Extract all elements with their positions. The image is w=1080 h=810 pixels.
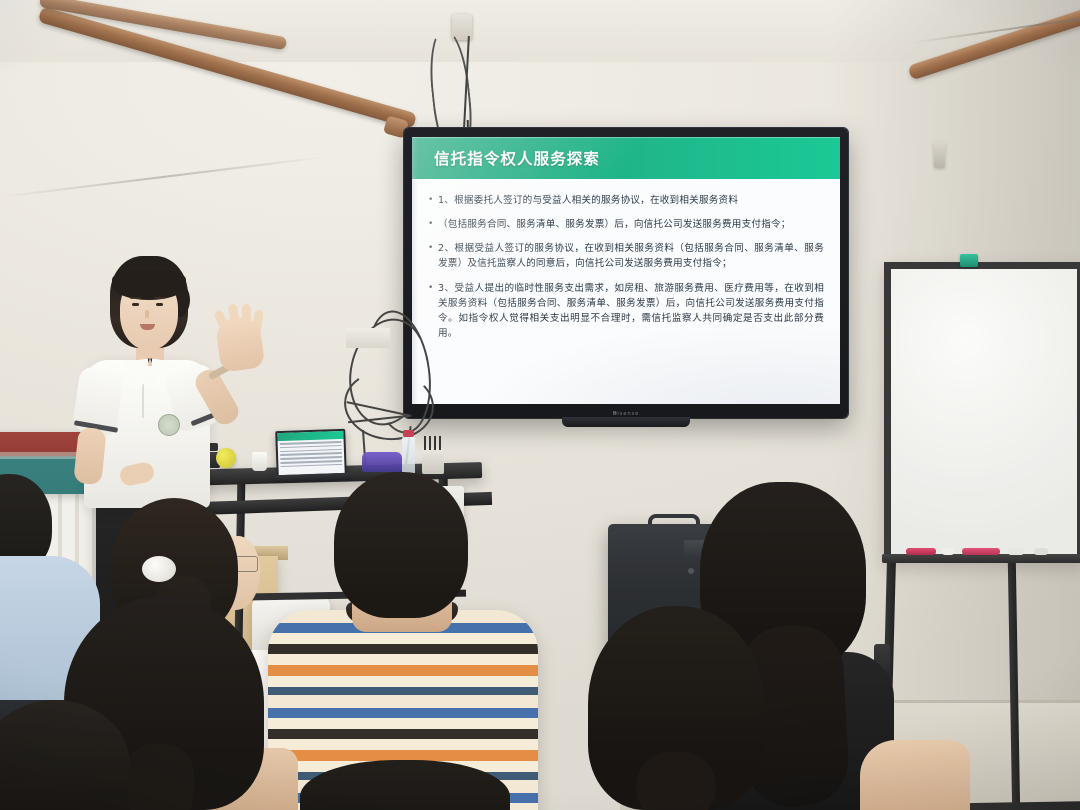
laptop-lid: [275, 429, 347, 477]
slide-title: 信托指令权人服务探索: [434, 147, 600, 169]
bullet-text: 3、受益人提出的临时性服务支出需求，如房租、旅游服务费用、医疗费用等，在收到相关…: [438, 281, 824, 342]
bullet-text: 1、根据委托人签订的与受益人相关的服务协议，在收到相关服务资料: [438, 193, 738, 208]
slide-bullet: • 2、根据受益人签订的服务协议，在收到相关服务资料（包括服务合同、服务清单、服…: [428, 241, 824, 271]
slide-title-band: 信托指令权人服务探索: [412, 137, 840, 179]
tv-brand-mark: Hisense: [613, 411, 640, 417]
wall-junction-box: [346, 328, 390, 348]
whiteboard-surface: [884, 262, 1080, 562]
audience-shoulder-right: [860, 740, 970, 810]
polo-placket: [142, 384, 144, 418]
tv-center-stand: [562, 417, 690, 427]
slide-bullet: • （包括服务合同、服务清单、服务发票）后，向信托公司发送服务费用支付指令；: [428, 217, 824, 232]
whiteboard-marker: [1034, 548, 1048, 555]
pen-holder: [422, 448, 444, 474]
audience-hair-foreground-right: [636, 752, 716, 810]
laptop-screen: [277, 431, 344, 475]
laptop-base: [274, 473, 352, 483]
laptop-slide-text: [278, 439, 345, 475]
whiteboard-marker: [962, 548, 1000, 555]
presentation-photo-scene: 信托指令权人服务探索 • 1、根据委托人签订的与受益人相关的服务协议，在收到相关…: [0, 0, 1080, 810]
whiteboard-assembly: [884, 262, 1080, 810]
presenter-nose: [145, 310, 149, 318]
presenter-eyebrow: [154, 297, 165, 299]
water-bottle: [402, 436, 415, 474]
pens: [424, 436, 444, 450]
text-line: [280, 445, 342, 449]
bullet-marker-icon: •: [428, 193, 438, 208]
bullet-marker-icon: •: [428, 241, 438, 271]
whiteboard-marker-ledge: [882, 554, 1080, 563]
presenter-laptop[interactable]: [276, 430, 350, 482]
bullet-text: （包括服务合同、服务清单、服务发票）后，向信托公司发送服务费用支付指令；: [438, 217, 791, 232]
whiteboard-marker: [942, 548, 954, 555]
text-line: [280, 464, 342, 468]
polo-chest-logo: [158, 414, 180, 436]
audience-hair-foreground-left: [124, 744, 194, 810]
whiteboard-marker: [1008, 548, 1024, 555]
binder-clip-icon: [960, 254, 978, 267]
purple-desk-object: [362, 452, 402, 472]
wall-mounted-tv: 信托指令权人服务探索 • 1、根据委托人签订的与受益人相关的服务协议，在收到相关…: [404, 128, 848, 418]
bullet-text: 2、根据受益人签订的服务协议，在收到相关服务资料（包括服务合同、服务清单、服务发…: [438, 241, 824, 271]
whiteboard-marker: [906, 548, 936, 555]
presentation-slide: 信托指令权人服务探索 • 1、根据委托人签订的与受益人相关的服务协议，在收到相关…: [412, 137, 840, 404]
text-line: [280, 460, 342, 464]
wall-bracket: [934, 142, 945, 168]
slide-bullet: • 1、根据委托人签订的与受益人相关的服务协议，在收到相关服务资料: [428, 193, 824, 208]
bottle-cap: [403, 430, 414, 437]
text-line: [280, 441, 342, 445]
presenter-eye: [156, 303, 163, 306]
tv-screen: 信托指令权人服务探索 • 1、根据委托人签订的与受益人相关的服务协议，在收到相关…: [412, 137, 840, 404]
whiteboard-leg-right: [1008, 562, 1020, 810]
bullet-marker-icon: •: [428, 217, 438, 232]
audience-head-striped-polo: [334, 472, 468, 618]
slide-body: • 1、根据委托人签订的与受益人相关的服务协议，在收到相关服务资料 • （包括服…: [412, 179, 840, 404]
slide-bullet: • 3、受益人提出的临时性服务支出需求，如房租、旅游服务费用、医疗费用等，在收到…: [428, 281, 824, 342]
hair-scrunchie: [142, 556, 176, 582]
speaker-indicator-led: [688, 568, 694, 574]
presenter-eyebrow: [130, 297, 141, 299]
presenter-hair-front: [112, 270, 186, 300]
presenter-eye: [132, 303, 139, 306]
